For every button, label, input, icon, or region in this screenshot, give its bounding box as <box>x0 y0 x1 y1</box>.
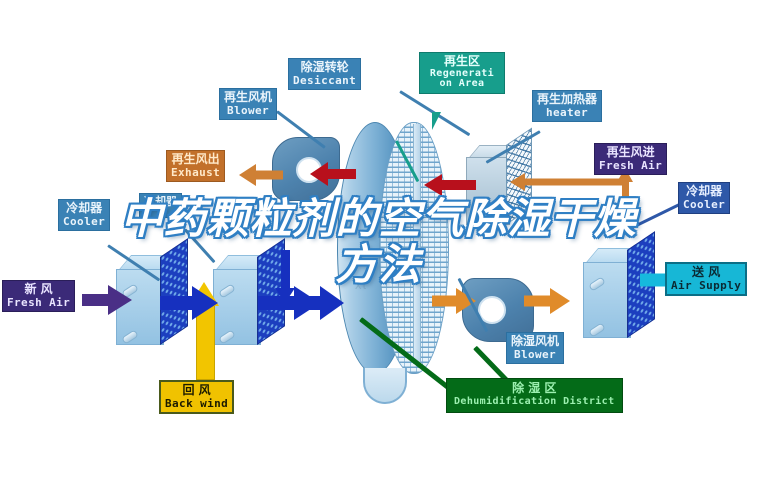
label-desiccant-wheel-cn: 除湿转轮 <box>293 61 356 74</box>
label-regen-fresh-air[interactable]: 再生风进 Fresh Air <box>594 143 667 175</box>
label-regen-fresh-air-en: Fresh Air <box>599 160 662 172</box>
arrow-blower-to-supply-shaft <box>524 296 552 307</box>
arrow-fresh-air-inlet <box>82 285 132 315</box>
label-regeneration-area-en: Regenerati on Area <box>424 69 500 90</box>
label-regen-blower-en: Blower <box>224 105 272 117</box>
label-desiccant-wheel[interactable]: 除湿转轮 Desiccant <box>288 58 361 90</box>
arrow-regen-return-head <box>310 162 328 186</box>
label-dehumid-blower-en: Blower <box>511 349 559 361</box>
arrow-fresh-air-inlet-shaft <box>82 294 110 306</box>
label-regeneration-area[interactable]: 再生区 Regenerati on Area <box>419 52 505 94</box>
arrow-between-coolers-head <box>192 286 218 320</box>
arrow-exhaust-shaft <box>255 171 283 180</box>
label-regen-exhaust[interactable]: 再生风出 Exhaust <box>166 150 225 182</box>
label-regen-exhaust-en: Exhaust <box>171 167 220 179</box>
label-regen-heater-en: heater <box>537 107 597 119</box>
arrow-regen-return-shaft <box>326 169 356 179</box>
label-desiccant-wheel-en: Desiccant <box>293 75 356 87</box>
arrow-regen-into-rotor-head <box>424 174 442 196</box>
title-overlay: 中药颗粒剂的空气除湿干燥 方法 <box>0 196 757 288</box>
arrow-regen-fresh-to-heater <box>510 173 628 191</box>
arrow-regen-fresh-head <box>510 173 525 191</box>
diagram-canvas: xt <box>0 0 757 488</box>
title-line-2: 方法 <box>0 242 757 288</box>
label-regen-exhaust-cn: 再生风出 <box>171 153 220 166</box>
arrow-to-rotor-inlet-head <box>320 286 344 320</box>
label-regen-blower-cn: 再生风机 <box>224 91 272 104</box>
arrow-regen-into-rotor-shaft <box>440 180 476 190</box>
label-regen-fresh-air-cn: 再生风进 <box>599 146 662 159</box>
arrow-fresh-air-inlet-head <box>108 285 132 315</box>
arrow-between-coolers-shaft <box>160 296 194 310</box>
label-regen-heater[interactable]: 再生加热器 heater <box>532 90 602 122</box>
label-fresh-air-inlet-en: Fresh Air <box>7 297 70 309</box>
label-regeneration-area-tail <box>432 112 441 130</box>
arrow-regen-return <box>310 162 356 186</box>
arrow-process-down-head <box>275 288 295 303</box>
label-dehumid-district[interactable]: 除 湿 区 Dehumidification District <box>446 378 623 413</box>
label-regen-blower[interactable]: 再生风机 Blower <box>219 88 277 120</box>
label-regeneration-area-cn: 再生区 <box>424 55 500 68</box>
label-dehumid-district-en: Dehumidification District <box>454 396 615 408</box>
arrow-rotor-to-blower-shaft <box>432 296 458 307</box>
arrow-to-rotor-inlet <box>304 286 344 320</box>
title-line-1: 中药颗粒剂的空气除湿干燥 <box>120 194 636 243</box>
label-back-wind[interactable]: 回 风 Back wind <box>159 380 234 414</box>
arrow-regen-fresh-shaft <box>524 179 628 186</box>
label-dehumid-district-cn: 除 湿 区 <box>454 382 615 395</box>
label-regen-heater-cn: 再生加热器 <box>537 93 597 106</box>
label-dehumid-blower[interactable]: 除湿风机 Blower <box>506 332 564 364</box>
arrow-between-coolers <box>160 286 218 320</box>
arrow-regen-into-rotor <box>424 174 476 196</box>
arrow-exhaust <box>239 164 283 186</box>
label-back-wind-cn: 回 风 <box>165 384 228 397</box>
label-back-wind-en: Back wind <box>165 398 228 410</box>
arrow-blower-to-supply-head <box>550 288 570 314</box>
label-dehumid-blower-cn: 除湿风机 <box>511 335 559 348</box>
arrow-blower-to-supply <box>524 288 574 314</box>
arrow-exhaust-head <box>239 164 256 186</box>
rotor-support-foot <box>363 368 407 404</box>
